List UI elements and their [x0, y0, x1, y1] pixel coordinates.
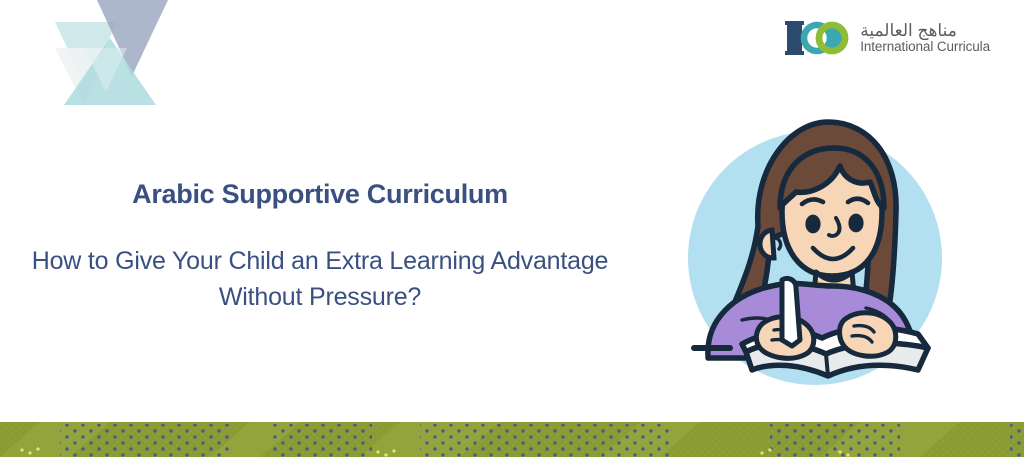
ear-left [760, 230, 774, 258]
book-spine [826, 354, 828, 376]
logo-letter-i-top [785, 21, 804, 25]
triangle-slate-down [97, 0, 168, 76]
logo-english-name: International Curricula [860, 40, 990, 55]
promo-banner: مناهج العالمية International Curricula A… [0, 0, 1024, 457]
logo-wordmark: مناهج العالمية International Curricula [860, 22, 990, 55]
triangle-pale-teal-down [55, 22, 117, 88]
triangle-overlap-light [85, 48, 127, 92]
logo-letter-i-bottom [785, 51, 804, 55]
bottom-decorative-band [0, 422, 1024, 457]
triangle-white-down [55, 48, 113, 105]
logo-arabic-name: مناهج العالمية [860, 22, 957, 40]
decorative-triangles [55, 0, 170, 105]
logo-letter-i [787, 21, 802, 55]
band-dot-blocks [60, 424, 1024, 457]
page-subtitle: How to Give Your Child an Extra Learning… [0, 244, 640, 315]
logo-mark-icon [783, 17, 849, 59]
triangle-teal-up [64, 38, 156, 105]
brand-logo[interactable]: مناهج العالمية International Curricula [783, 17, 990, 59]
band-pattern-svg [0, 422, 1024, 457]
page-title: Arabic Supportive Curriculum [0, 178, 640, 210]
headline-block: Arabic Supportive Curriculum How to Give… [0, 178, 640, 315]
eye-right [848, 214, 863, 233]
hand-right [840, 313, 896, 357]
illustration-svg [650, 108, 955, 403]
triangles-svg [55, 0, 170, 105]
girl-studying-illustration [650, 108, 955, 403]
eye-left [805, 215, 820, 234]
pencil [782, 278, 800, 346]
